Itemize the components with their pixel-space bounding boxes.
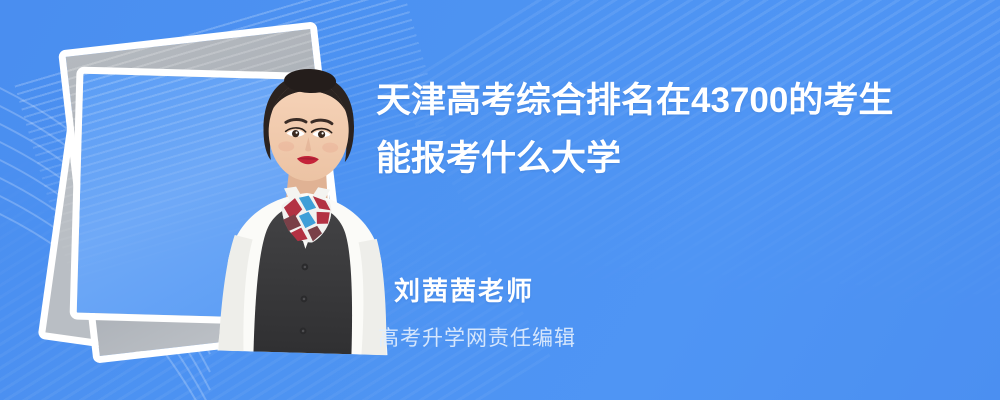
headline-line-2: 能报考什么大学 [376, 130, 976, 188]
article-cover-banner: 天津高考综合排名在43700的考生 能报考什么大学 刘茜茜老师 高考升学网责任编… [0, 0, 1000, 400]
banner-text-block: 天津高考综合排名在43700的考生 能报考什么大学 刘茜茜老师 高考升学网责任编… [376, 0, 986, 400]
headline-line-1: 天津高考综合排名在43700的考生 [376, 72, 976, 130]
portrait-photo-frame [70, 66, 333, 326]
portrait-photo-inner [77, 74, 326, 320]
page-title: 天津高考综合排名在43700的考生 能报考什么大学 [376, 72, 976, 188]
author-role: 高考升学网责任编辑 [378, 322, 576, 352]
photo-card-stack [45, 25, 345, 375]
author-name: 刘茜茜老师 [394, 271, 534, 308]
